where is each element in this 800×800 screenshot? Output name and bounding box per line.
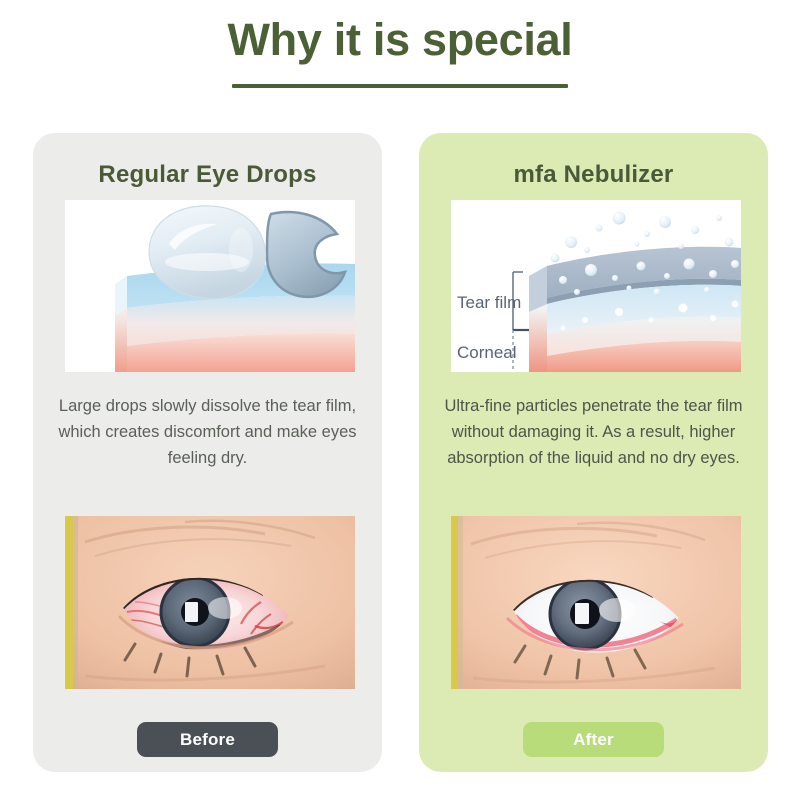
after-button[interactable]: After xyxy=(523,722,664,757)
card-heading-nebulizer: mfa Nebulizer xyxy=(419,161,768,189)
page-title: Why it is special xyxy=(0,14,800,66)
photo-before xyxy=(65,516,355,689)
clear-healthy-eye-photo xyxy=(451,516,741,689)
card-mfa-nebulizer: mfa Nebulizer xyxy=(419,133,768,772)
title-underline xyxy=(232,84,568,88)
card-body-text-regular: Large drops slowly dissolve the tear fil… xyxy=(47,393,368,471)
illustration-mfa-nebulizer: Tear film Corneal xyxy=(451,200,741,372)
label-corneal: Corneal xyxy=(457,343,517,362)
label-tear-film: Tear film xyxy=(457,293,521,312)
card-body-text-nebulizer: Ultra-fine particles penetrate the tear … xyxy=(433,393,754,471)
red-irritated-eye-photo xyxy=(65,516,355,689)
card-regular-eye-drops: Regular Eye Drops xyxy=(33,133,382,772)
page-header: Why it is special xyxy=(0,14,800,88)
photo-after xyxy=(451,516,741,689)
droplet-tear-film-svg xyxy=(65,200,355,372)
before-button[interactable]: Before xyxy=(137,722,278,757)
card-heading-regular: Regular Eye Drops xyxy=(33,161,382,189)
illustration-regular-eye-drops xyxy=(65,200,355,372)
comparison-cards-row: Regular Eye Drops xyxy=(33,133,768,772)
particles-tear-film-svg: Tear film Corneal xyxy=(451,200,741,372)
